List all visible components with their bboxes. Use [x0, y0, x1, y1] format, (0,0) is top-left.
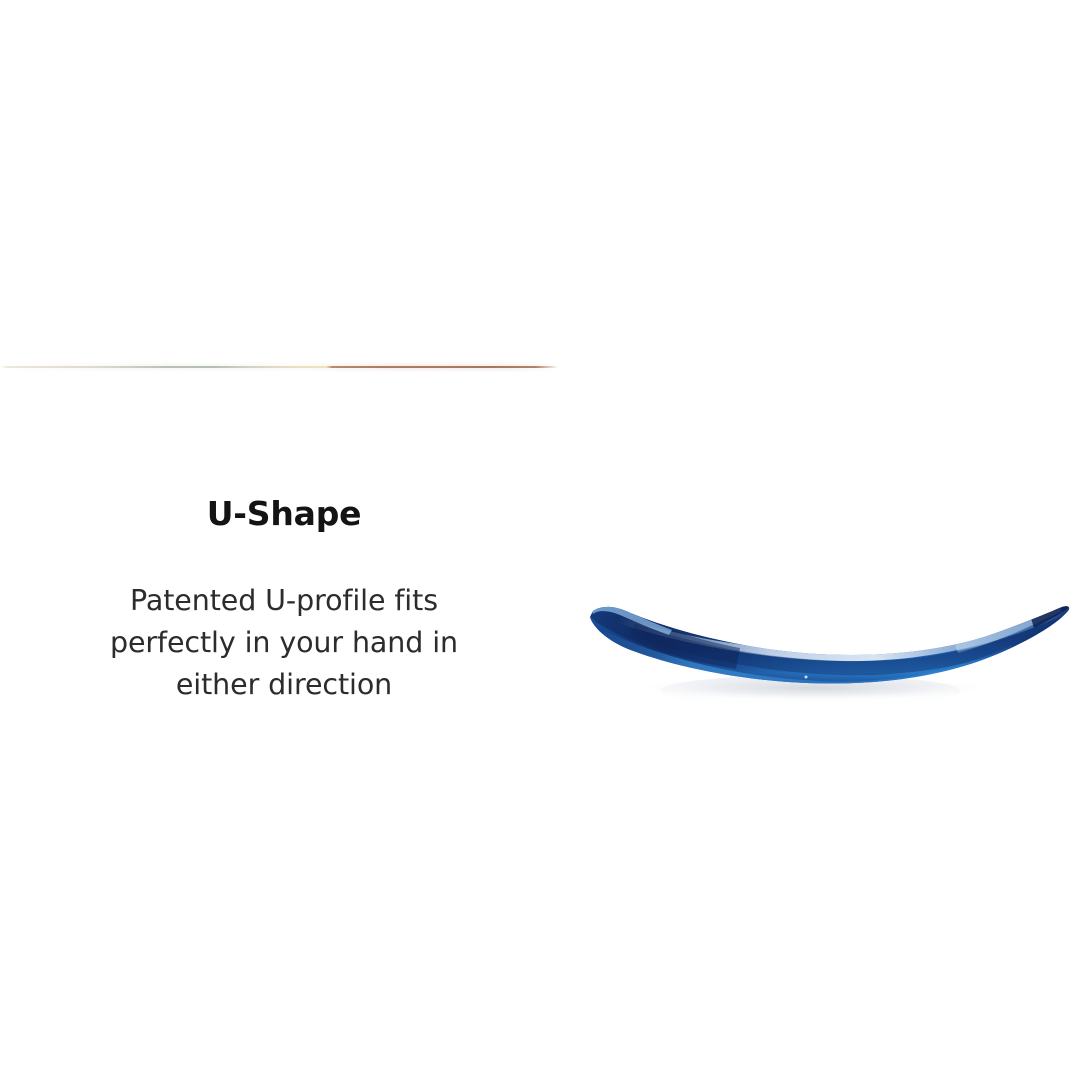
- spoon-specular-dot: [805, 676, 808, 679]
- feature-description-line-3: either direction: [55, 664, 513, 706]
- feature-description-line-1: Patented U-profile fits: [55, 580, 513, 622]
- page-root: U-Shape Patented U-profile fits perfectl…: [0, 0, 1080, 1080]
- blue-u-shape-spoon-image: [560, 565, 1080, 740]
- product-image-stage: [560, 565, 1080, 740]
- spoon-body: [590, 603, 1070, 690]
- feature-text-block: U-Shape Patented U-profile fits perfectl…: [55, 495, 513, 706]
- feature-headline: U-Shape: [55, 495, 513, 534]
- divider-line: [0, 366, 558, 368]
- feature-description-line-2: perfectly in your hand in: [55, 622, 513, 664]
- feature-description: Patented U-profile fits perfectly in you…: [55, 534, 513, 706]
- gradient-divider: [0, 362, 560, 372]
